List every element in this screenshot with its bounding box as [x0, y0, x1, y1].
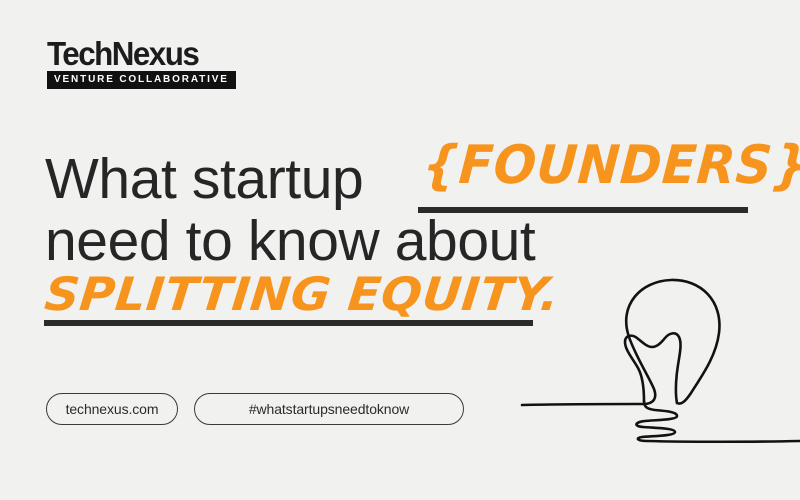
technexus-logo[interactable]: TechNexus VENTURE COLLABORATIVE [47, 38, 222, 89]
headline-accent-splitting-equity: SPLITTING EQUITY. [42, 268, 562, 320]
hashtag-chip[interactable]: #whatstartupsneedtoknow [194, 393, 464, 425]
headline-line-2-text: need to know about [45, 210, 535, 272]
website-chip[interactable]: technexus.com [46, 393, 178, 425]
footer-chip-row: technexus.com #whatstartupsneedtoknow [46, 393, 464, 425]
underline-bar-founders [418, 207, 748, 213]
logo-tagline-bar: VENTURE COLLABORATIVE [47, 71, 236, 89]
slide-canvas: TechNexus VENTURE COLLABORATIVE What sta… [0, 0, 800, 500]
logo-wordmark: TechNexus [47, 38, 213, 69]
headline-line-2: need to know about [45, 210, 775, 272]
headline-line-1: What startup {FOUNDERS} [45, 148, 775, 210]
logo-tagline: VENTURE COLLABORATIVE [54, 75, 229, 85]
headline-line-1-text: What startup [45, 148, 363, 210]
lightbulb-line-art [505, 265, 800, 445]
underline-bar-splitting-equity [44, 320, 533, 326]
headline-accent-founders: {FOUNDERS} [421, 132, 800, 198]
lightbulb-icon [505, 265, 800, 445]
